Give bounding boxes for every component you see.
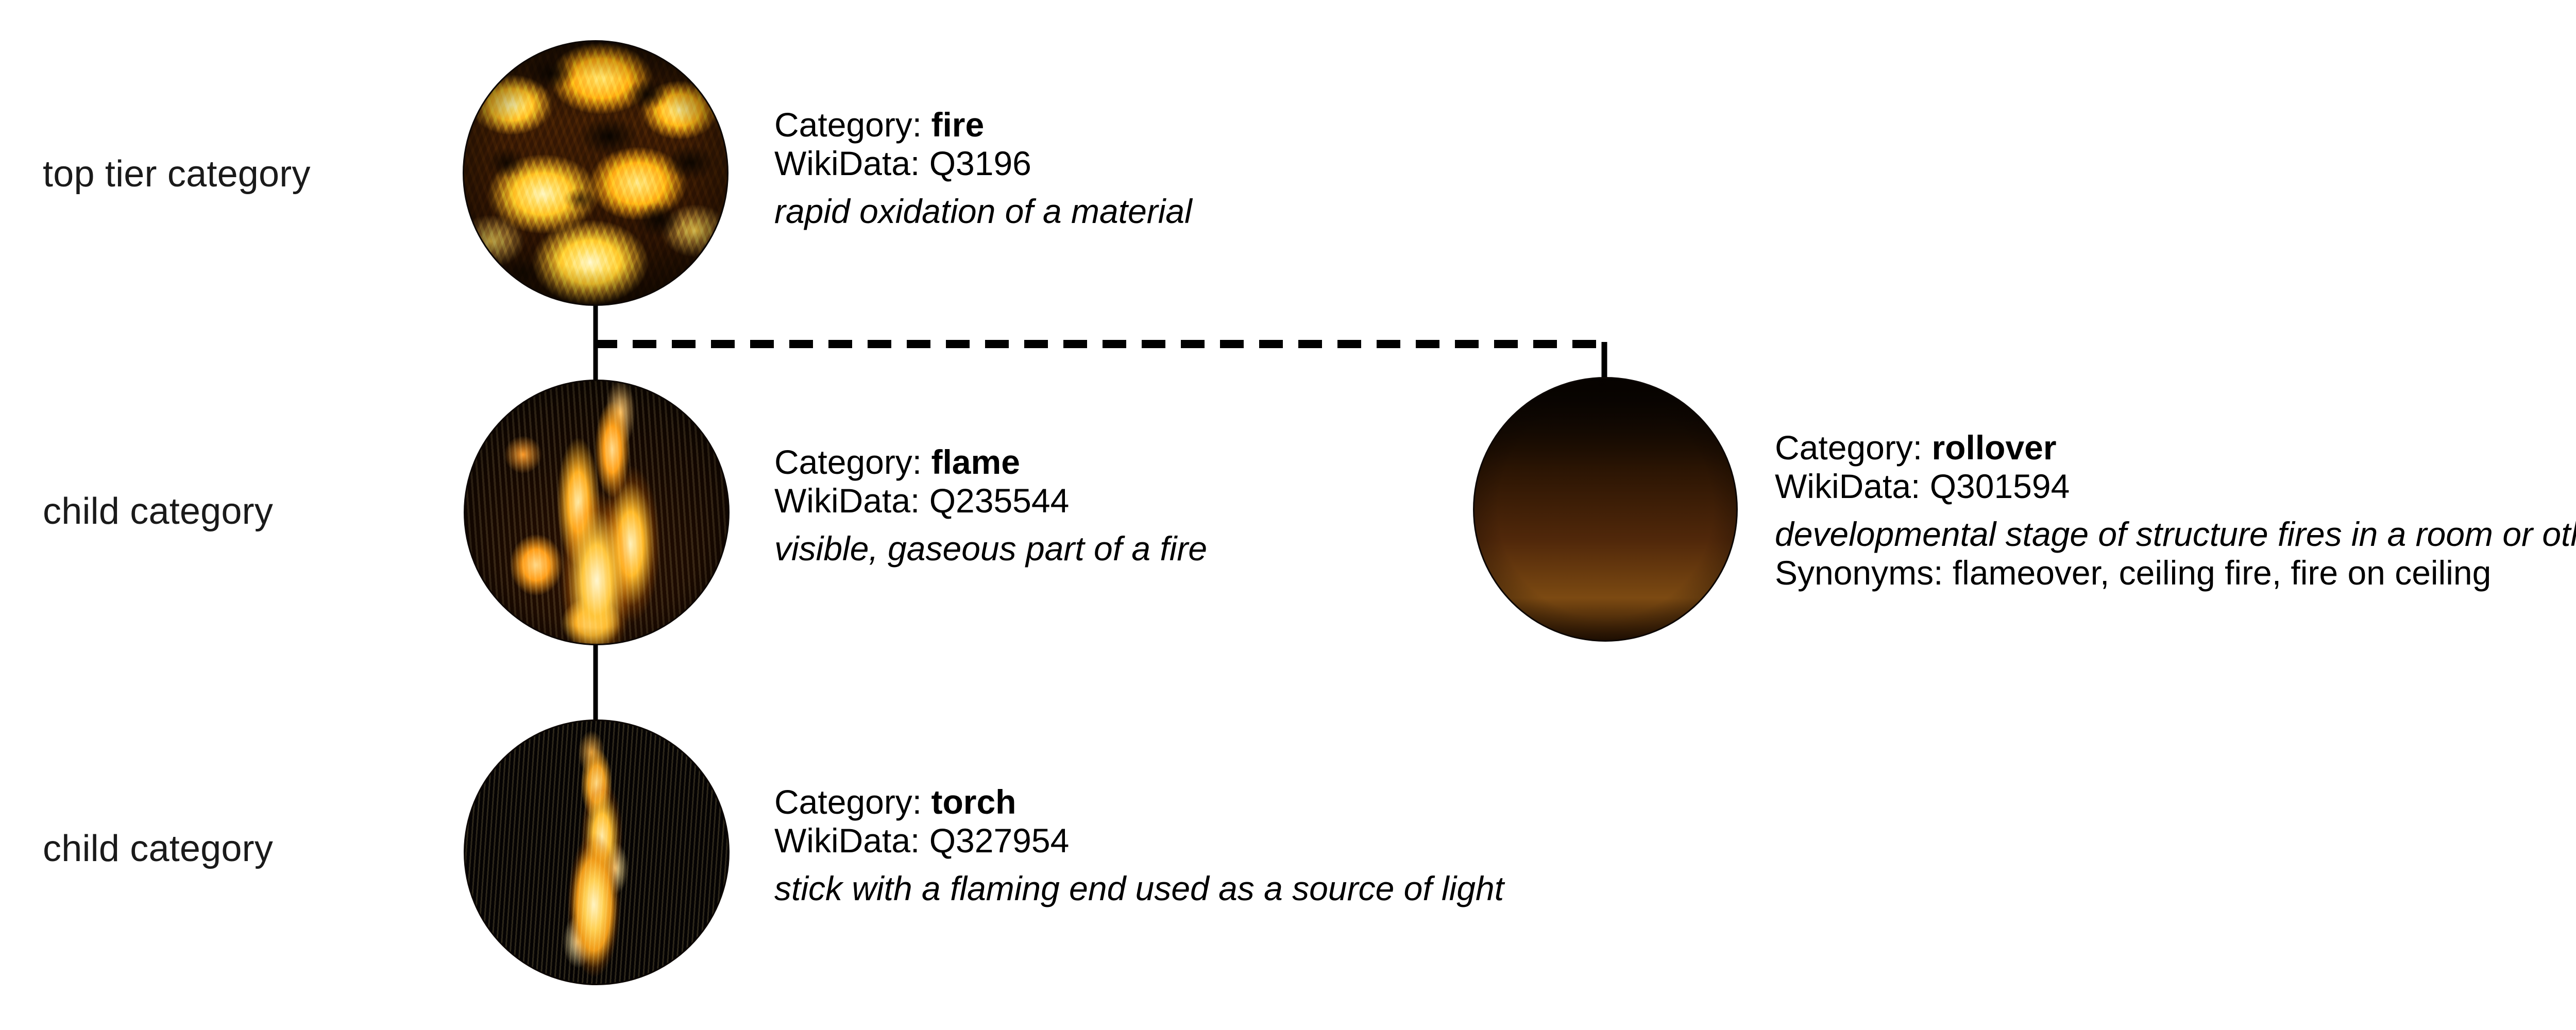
flame-thumbnail[interactable] <box>465 381 728 644</box>
fire-description: rapid oxidation of a material <box>774 192 1192 231</box>
torch-thumbnail-filaments <box>465 721 728 984</box>
flame-category-label: Category: <box>774 443 922 481</box>
rollover-synonyms-line: Synonyms: flameover, ceiling fire, fire … <box>1775 554 2576 592</box>
flame-wikidata-value: Q235544 <box>929 482 1070 520</box>
rollover-wikidata-value: Q301594 <box>1930 467 2070 505</box>
fire-wikidata-line: WikiData: Q3196 <box>774 144 1192 183</box>
rollover-thumbnail-vignette <box>1475 379 1736 640</box>
torch-wikidata-value: Q327954 <box>929 821 1070 860</box>
torch-category-value: torch <box>931 783 1016 821</box>
rollover-category-label: Category: <box>1775 428 1922 467</box>
torch-thumbnail[interactable] <box>465 721 728 984</box>
rollover-wikidata-line: WikiData: Q301594 <box>1775 467 2576 506</box>
flame-wikidata-line: WikiData: Q235544 <box>774 482 1207 520</box>
fire-info-block: Category: fire WikiData: Q3196 rapid oxi… <box>774 106 1192 231</box>
tier-label-child-2: child category <box>43 830 273 867</box>
torch-description: stick with a flaming end used as a sourc… <box>774 869 1504 908</box>
rollover-description: developmental stage of structure fires i… <box>1775 515 2576 554</box>
rollover-synonyms-value: flameover, ceiling fire, fire on ceiling <box>1953 554 2492 592</box>
rollover-thumbnail[interactable] <box>1475 379 1736 640</box>
flame-description: visible, gaseous part of a fire <box>774 529 1207 568</box>
flame-info-block: Category: flame WikiData: Q235544 visibl… <box>774 443 1207 568</box>
torch-category-line: Category: torch <box>774 783 1504 821</box>
fire-category-line: Category: fire <box>774 106 1192 144</box>
tier-label-top-tier: top tier category <box>43 156 311 193</box>
flame-category-value: flame <box>931 443 1020 481</box>
fire-thumbnail-vignette <box>464 42 727 304</box>
torch-wikidata-line: WikiData: Q327954 <box>774 821 1504 860</box>
flame-thumbnail-vignette <box>465 381 728 644</box>
rollover-info-block: Category: rollover WikiData: Q301594 dev… <box>1775 428 2576 592</box>
fire-category-value: fire <box>931 106 984 144</box>
rollover-category-line: Category: rollover <box>1775 428 2576 467</box>
fire-thumbnail[interactable] <box>464 42 727 304</box>
rollover-wikidata-label: WikiData: <box>1775 467 1920 505</box>
fire-category-label: Category: <box>774 106 922 144</box>
torch-info-block: Category: torch WikiData: Q327954 stick … <box>774 783 1504 908</box>
rollover-synonyms-label: Synonyms: <box>1775 554 1943 592</box>
fire-wikidata-label: WikiData: <box>774 144 920 182</box>
flame-category-line: Category: flame <box>774 443 1207 482</box>
torch-wikidata-label: WikiData: <box>774 821 920 860</box>
rollover-category-value: rollover <box>1931 428 2056 467</box>
category-hierarchy-diagram: top tier category child category child c… <box>0 0 2576 1030</box>
tier-label-child-1: child category <box>43 493 273 530</box>
fire-wikidata-value: Q3196 <box>929 144 1031 182</box>
torch-category-label: Category: <box>774 783 922 821</box>
flame-wikidata-label: WikiData: <box>774 482 920 520</box>
